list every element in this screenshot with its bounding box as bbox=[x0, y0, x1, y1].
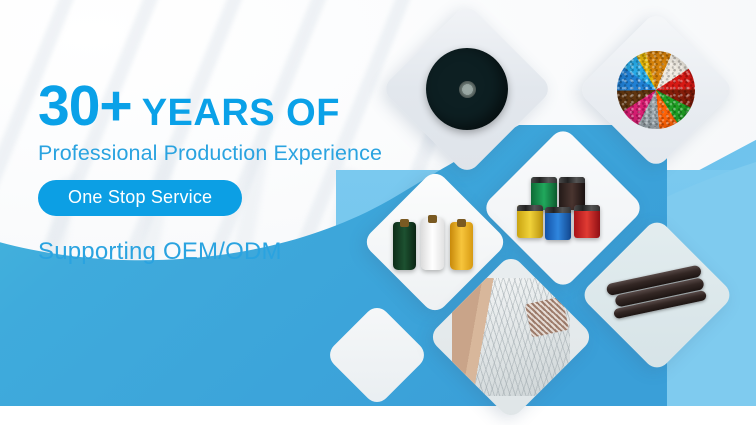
headline-row: 30+ YEARS OF bbox=[38, 78, 458, 135]
product-image-blank-accent bbox=[340, 318, 414, 392]
bobbin-yellow-icon bbox=[517, 205, 543, 238]
headline-years-of: YEARS OF bbox=[142, 94, 340, 132]
banner-copy: 30+ YEARS OF Professional Production Exp… bbox=[38, 78, 458, 266]
banner-footline: Supporting OEM/ODM bbox=[38, 238, 458, 266]
headline-number: 30+ bbox=[38, 78, 132, 135]
bobbin-blue-icon bbox=[545, 207, 571, 240]
bobbin-red-icon bbox=[574, 205, 600, 238]
product-image-hand-holding-mesh bbox=[452, 278, 570, 396]
mesh-fabric-icon bbox=[452, 278, 570, 396]
product-image-color-thread-bobbins bbox=[505, 150, 621, 266]
bottom-white-strip bbox=[0, 406, 756, 425]
promo-banner: 30+ YEARS OF Professional Production Exp… bbox=[0, 0, 756, 425]
pellets-wheel-icon bbox=[617, 51, 695, 129]
product-image-color-plastic-pellets bbox=[600, 34, 712, 146]
one-stop-service-button[interactable]: One Stop Service bbox=[38, 180, 242, 216]
product-image-dark-fiber-strand bbox=[602, 240, 712, 350]
bobbins-group bbox=[517, 177, 609, 239]
banner-subtitle: Professional Production Experience bbox=[38, 141, 458, 166]
fiber-strand-icon bbox=[605, 263, 708, 328]
